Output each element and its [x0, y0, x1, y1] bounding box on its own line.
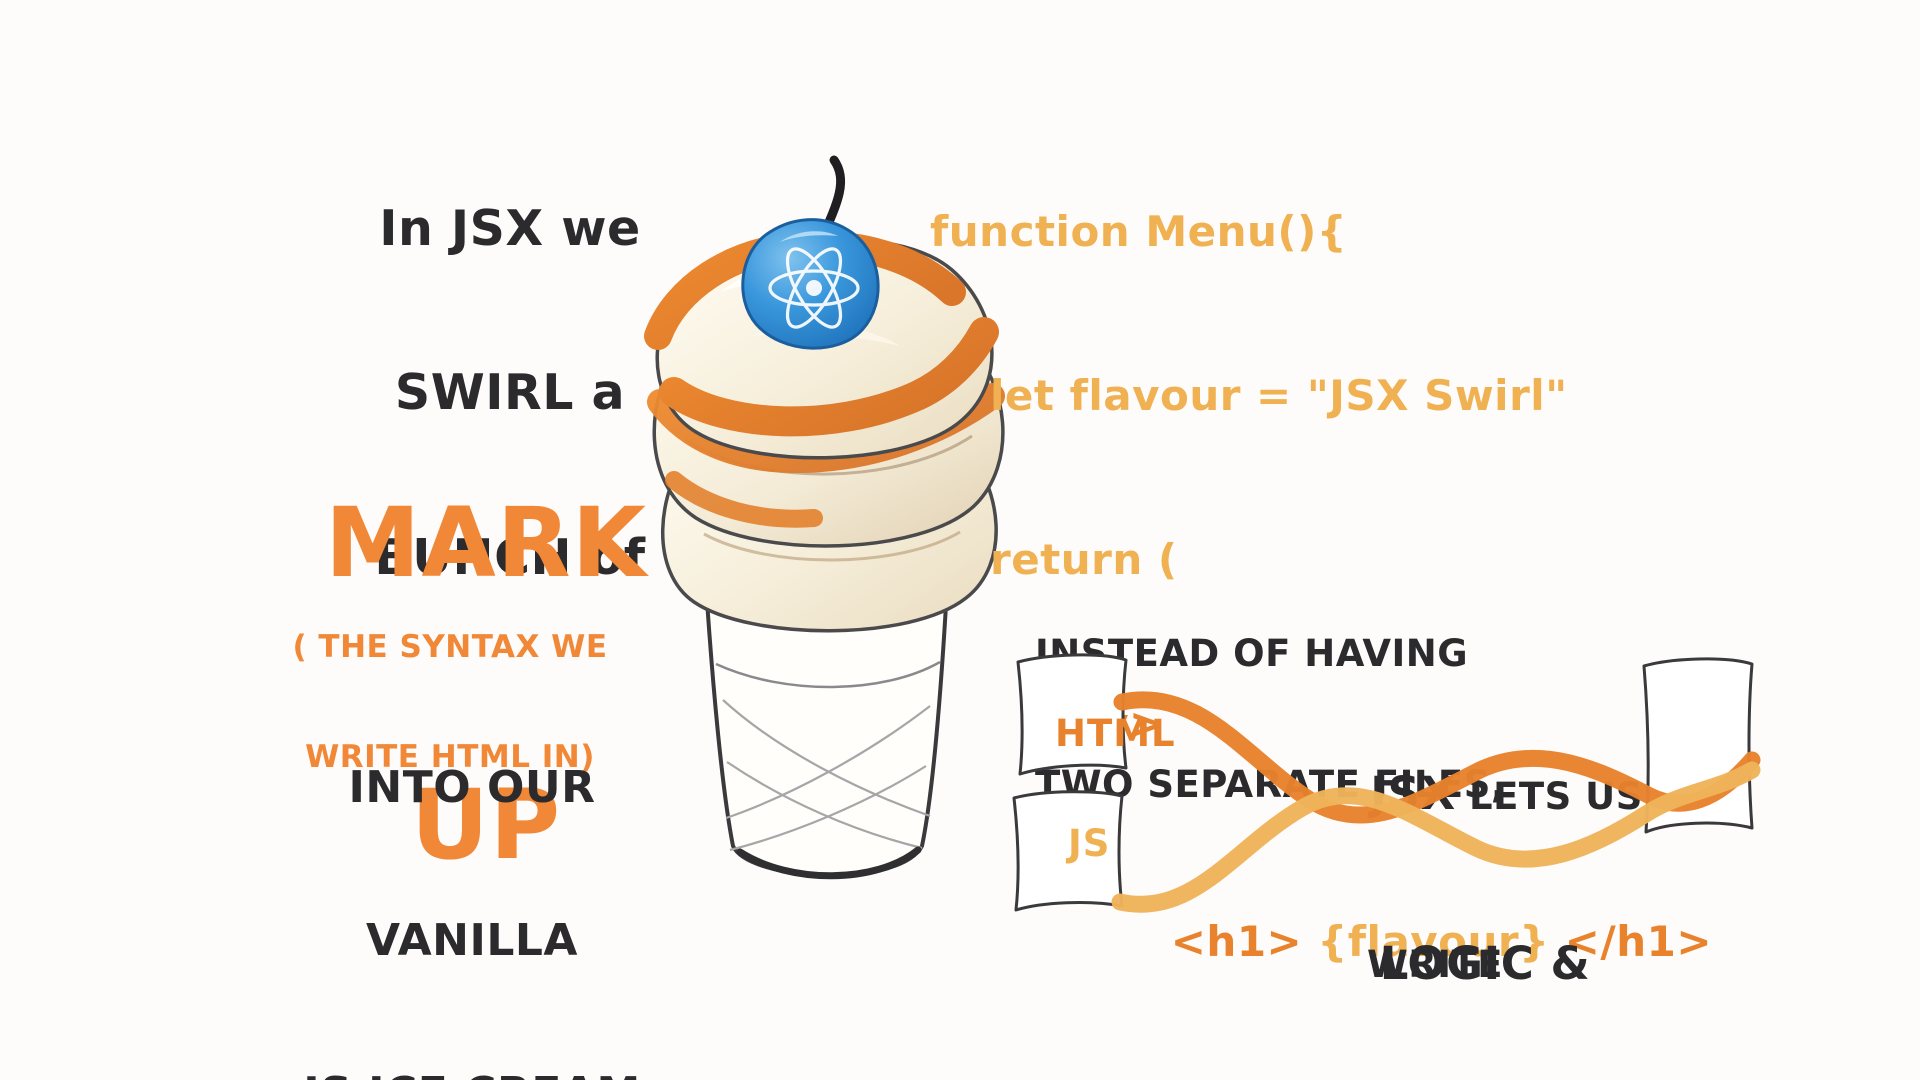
code-line-1: function Menu(){ — [930, 205, 1712, 260]
into-line-3: JS ICE CREAM — [272, 1068, 672, 1080]
js-card-label: JS — [1068, 822, 1110, 865]
code-line-2: let flavour = "JSX Swirl" — [930, 369, 1712, 424]
react-cherry — [743, 220, 878, 348]
whiteboard-illustration-canvas: In JSX we SWIRL a BUNCH of MARK UP ( THE… — [0, 0, 1920, 1080]
logic-line-1: LOGIC & — [1340, 940, 1630, 987]
file-merge-diagram — [1010, 650, 1770, 940]
html-card-label: HTML — [1055, 712, 1176, 755]
